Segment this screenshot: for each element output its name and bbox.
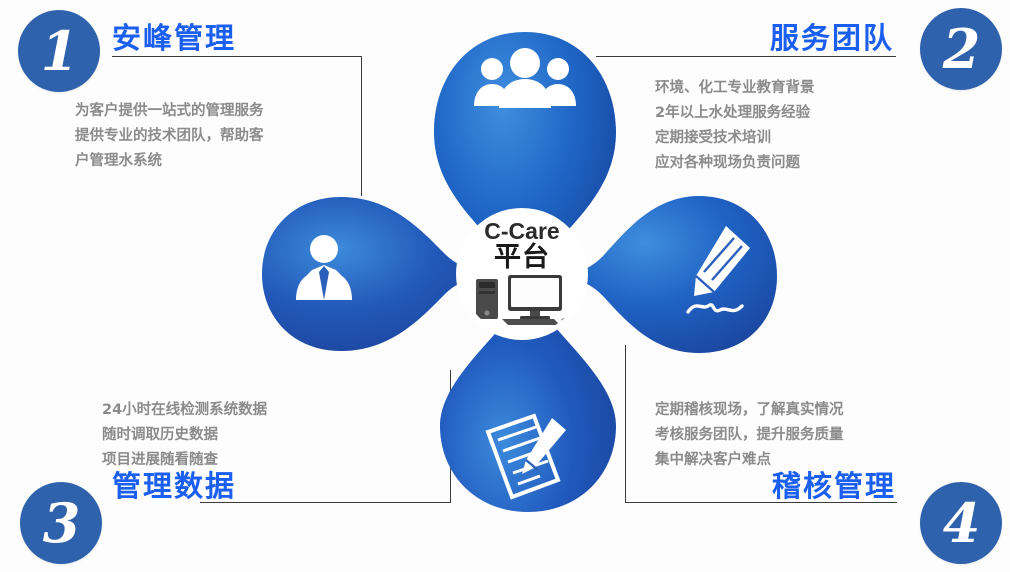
number-badge-4-value: 4: [943, 496, 980, 550]
quadrant-body-1: 为客户提供一站式的管理服务提供专业的技术团队，帮助客户管理水系统: [75, 99, 264, 174]
number-badge-3-value: 3: [43, 496, 80, 550]
text-line: 随时调取历史数据: [102, 423, 267, 448]
connector-line-2-horizontal: [596, 56, 896, 57]
text-line: 应对各种现场负责问题: [655, 151, 815, 176]
connector-line-4-vertical: [625, 345, 626, 503]
quadrant-body-4: 定期稽核现场，了解真实情况考核服务团队，提升服务质量集中解决客户难点: [655, 398, 844, 473]
number-badge-4: 4: [920, 482, 1002, 564]
number-badge-2-value: 2: [943, 22, 980, 76]
businessman-icon: [292, 232, 356, 306]
text-line: 为客户提供一站式的管理服务: [75, 99, 264, 124]
quadrant-title-3: 管理数据: [112, 472, 236, 501]
connector-line-1-horizontal: [112, 56, 362, 57]
infographic-canvas: 服务 团队 安峰 管理 稽核 管理 管理 数据 C-Care 平台: [0, 0, 1010, 572]
pencil-signature-icon: [682, 222, 762, 326]
number-badge-3: 3: [20, 482, 102, 564]
text-line: 提供专业的技术团队，帮助客: [75, 124, 264, 149]
quadrant-title-1: 安峰管理: [112, 24, 236, 53]
center-title: C-Care: [484, 220, 559, 243]
three-people-group-icon: [470, 48, 580, 114]
connector-line-3-horizontal: [200, 502, 450, 503]
text-line: 定期接受技术培训: [655, 126, 815, 151]
text-line: 考核服务团队，提升服务质量: [655, 423, 844, 448]
connector-line-1-vertical: [361, 56, 362, 196]
text-line: 24小时在线检测系统数据: [102, 398, 267, 423]
clipboard-pen-icon: [478, 408, 570, 507]
center-subtitle: 平台: [494, 244, 550, 271]
number-badge-1-value: 1: [41, 24, 78, 78]
center-platform-node[interactable]: C-Care 平台: [461, 213, 583, 335]
text-line: 定期稽核现场，了解真实情况: [655, 398, 844, 423]
quadrant-body-2: 环境、化工专业教育背景2年以上水处理服务经验定期接受技术培训应对各种现场负责问题: [655, 76, 815, 176]
text-line: 环境、化工专业教育背景: [655, 76, 815, 101]
text-line: 2年以上水处理服务经验: [655, 101, 815, 126]
quadrant-title-4: 稽核管理: [772, 472, 896, 501]
text-line: 集中解决客户难点: [655, 448, 844, 473]
number-badge-2: 2: [920, 8, 1002, 90]
text-line: 项目进展随看随查: [102, 448, 267, 473]
text-line: 户管理水系统: [75, 149, 264, 174]
quadrant-title-2: 服务团队: [770, 24, 894, 53]
desktop-computer-icon: [470, 269, 574, 331]
quadrant-body-3: 24小时在线检测系统数据随时调取历史数据项目进展随看随查: [102, 398, 267, 473]
number-badge-1: 1: [18, 10, 100, 92]
